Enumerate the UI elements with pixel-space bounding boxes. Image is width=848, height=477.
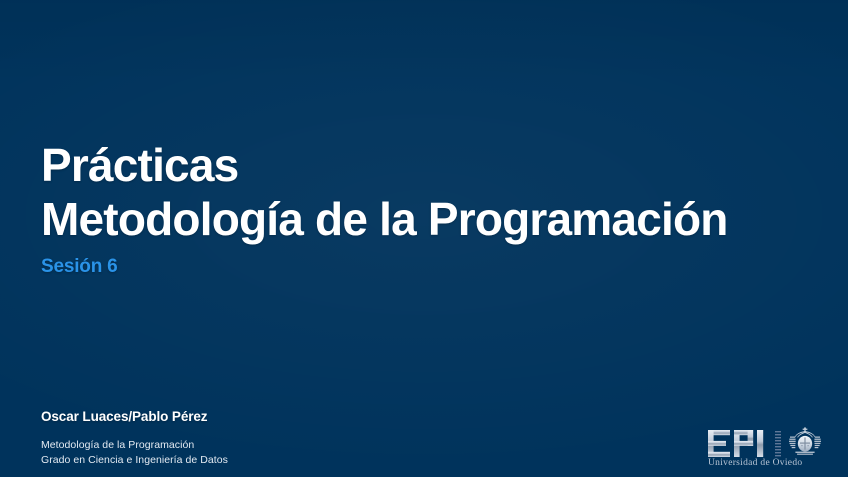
degree-name: Grado en Ciencia e Ingeniería de Datos <box>41 453 228 468</box>
epi-universidad-de-oviedo-logo: Universidad de Oviedo <box>708 428 828 472</box>
title-slide: Prácticas Metodología de la Programación… <box>0 0 848 477</box>
logo-spine-icon <box>775 430 782 457</box>
page-title-line-1: Prácticas <box>41 138 728 192</box>
title-block: Prácticas Metodología de la Programación… <box>41 138 728 278</box>
author-names: Oscar Luaces/Pablo Pérez <box>41 409 228 424</box>
logo-caption: Universidad de Oviedo <box>708 458 828 468</box>
course-info: Metodología de la Programación Grado en … <box>41 438 228 467</box>
logo-row <box>708 428 828 457</box>
session-subtitle: Sesión 6 <box>41 256 728 278</box>
epi-wordmark-icon <box>708 430 774 457</box>
universidad-de-oviedo-crest-icon <box>788 427 822 457</box>
footer-block: Oscar Luaces/Pablo Pérez Metodología de … <box>41 409 228 467</box>
course-name: Metodología de la Programación <box>41 438 228 453</box>
page-title-line-2: Metodología de la Programación <box>41 192 728 246</box>
